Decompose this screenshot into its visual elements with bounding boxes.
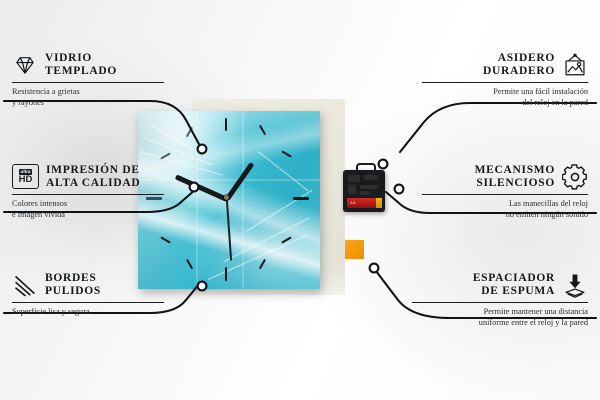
- badge-hd-label: HD: [19, 175, 33, 185]
- feature-title-line1: MECANISMO: [475, 164, 555, 177]
- connector-dot-espaciador: [370, 264, 379, 273]
- feature-asidero-duradero: ASIDERO DURADERO Permite una fácil insta…: [422, 52, 588, 109]
- feature-title-line1: VIDRIO: [45, 52, 117, 65]
- feature-description: Permite una fácil instalación del reloj …: [422, 86, 588, 109]
- feature-rule: [422, 82, 588, 83]
- connector-dot-vidrio-templado: [198, 145, 207, 154]
- feature-title-line2: TEMPLADO: [45, 65, 117, 78]
- connector-dot-bordes-pulidos: [198, 282, 207, 291]
- feature-title-line2: DURADERO: [483, 65, 555, 78]
- feature-description: Colores intensos e imagen vívida: [12, 198, 164, 221]
- feature-description: Superficie lisa y segura: [12, 306, 164, 317]
- feature-rule: [12, 194, 164, 195]
- feature-rule: [412, 302, 588, 303]
- feature-rule: [12, 82, 164, 83]
- feature-espaciador-de-espuma: ESPACIADOR DE ESPUMA Permite mantener un…: [412, 272, 588, 329]
- feature-title-line2: PULIDOS: [45, 285, 101, 298]
- feature-description: Resistencia a grietas y rayones: [12, 86, 164, 109]
- feature-title-line1: BORDES: [45, 272, 101, 285]
- feature-title-line1: ESPACIADOR: [473, 272, 555, 285]
- feature-impresion-alta-calidad: ultra HD IMPRESIÓN DE ALTA CALIDAD Color…: [12, 164, 164, 221]
- connector-dot-impresion: [190, 183, 199, 192]
- feature-title-line1: IMPRESIÓN DE: [46, 164, 140, 177]
- connector-dot-mecanismo: [395, 185, 404, 194]
- connector-dot-asidero: [379, 160, 388, 169]
- feature-mecanismo-silencioso: MECANISMO SILENCIOSO Las manecillas del …: [422, 164, 588, 221]
- framed-picture-icon: [562, 52, 588, 78]
- feature-description: Las manecillas del reloj no emiten ningú…: [422, 198, 588, 221]
- feature-title-line2: DE ESPUMA: [481, 285, 555, 298]
- feature-title-line2: SILENCIOSO: [476, 177, 555, 190]
- diamond-icon: [12, 52, 38, 78]
- feature-title-line2: ALTA CALIDAD: [46, 177, 140, 190]
- feature-bordes-pulidos: BORDES PULIDOS Superficie lisa y segura: [12, 272, 164, 317]
- feature-rule: [12, 302, 164, 303]
- product-infographic: AA: [0, 0, 600, 400]
- connector-asidero: [400, 103, 596, 152]
- feature-description: Permite mantener una distancia uniforme …: [412, 306, 588, 329]
- feature-title-line1: ASIDERO: [498, 52, 555, 65]
- gear-icon: [562, 164, 588, 190]
- ultra-hd-badge-icon: ultra HD: [12, 164, 39, 189]
- down-arrow-foam-icon: [562, 272, 588, 298]
- feature-rule: [422, 194, 588, 195]
- feature-vidrio-templado: VIDRIO TEMPLADO Resistencia a grietas y …: [12, 52, 164, 109]
- diagonal-lines-icon: [12, 272, 38, 298]
